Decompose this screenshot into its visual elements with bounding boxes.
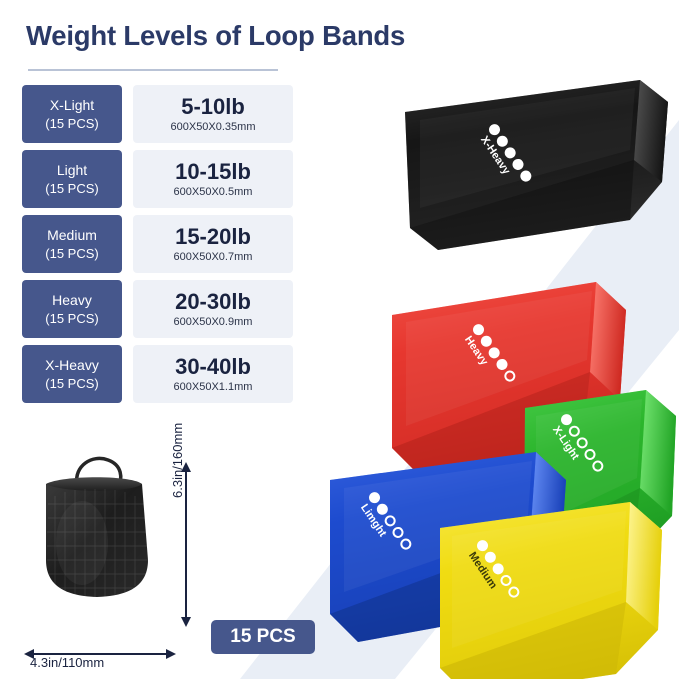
value-cell: 15-20lb 600X50X0.7mm bbox=[133, 215, 293, 273]
band-medium bbox=[440, 502, 662, 679]
dimension-value: 600X50X1.1mm bbox=[174, 381, 253, 393]
level-cell: X-Light (15 PCS) bbox=[22, 85, 122, 143]
level-cell: Light (15 PCS) bbox=[22, 150, 122, 208]
table-row: Medium (15 PCS) 15-20lb 600X50X0.7mm bbox=[22, 215, 293, 273]
pouch-width-label: 4.3in/110mm bbox=[30, 655, 104, 670]
table-row: Heavy (15 PCS) 20-30lb 600X50X0.9mm bbox=[22, 280, 293, 338]
page-title: Weight Levels of Loop Bands bbox=[26, 20, 405, 52]
weight-value: 30-40lb bbox=[175, 355, 251, 378]
band-x-heavy bbox=[405, 80, 668, 250]
level-pcs: (15 PCS) bbox=[45, 375, 98, 393]
level-name: Medium bbox=[47, 226, 97, 245]
level-pcs: (15 PCS) bbox=[45, 115, 98, 133]
weight-value: 5-10lb bbox=[181, 95, 245, 118]
product-infographic: Weight Levels of Loop Bands X-Light (15 … bbox=[0, 0, 679, 679]
pouch-height-label: 6.3in/160mm bbox=[170, 423, 185, 498]
bands-illustration: X-Heavy Heavy X-Light Limght bbox=[310, 60, 679, 679]
title-underline bbox=[28, 69, 278, 71]
weight-value: 20-30lb bbox=[175, 290, 251, 313]
level-pcs: (15 PCS) bbox=[45, 310, 98, 328]
level-pcs: (15 PCS) bbox=[45, 245, 98, 263]
level-name: Light bbox=[57, 161, 87, 180]
level-name: X-Light bbox=[50, 96, 94, 115]
level-cell: Medium (15 PCS) bbox=[22, 215, 122, 273]
dimension-value: 600X50X0.9mm bbox=[174, 316, 253, 328]
value-cell: 20-30lb 600X50X0.9mm bbox=[133, 280, 293, 338]
level-cell: X-Heavy (15 PCS) bbox=[22, 345, 122, 403]
level-name: Heavy bbox=[52, 291, 92, 310]
level-cell: Heavy (15 PCS) bbox=[22, 280, 122, 338]
value-cell: 30-40lb 600X50X1.1mm bbox=[133, 345, 293, 403]
dimension-value: 600X50X0.7mm bbox=[174, 251, 253, 263]
carry-pouch-image bbox=[22, 448, 172, 633]
table-row: X-Heavy (15 PCS) 30-40lb 600X50X1.1mm bbox=[22, 345, 293, 403]
value-cell: 5-10lb 600X50X0.35mm bbox=[133, 85, 293, 143]
spec-table: X-Light (15 PCS) 5-10lb 600X50X0.35mm Li… bbox=[22, 85, 293, 410]
dimension-value: 600X50X0.5mm bbox=[174, 186, 253, 198]
table-row: Light (15 PCS) 10-15lb 600X50X0.5mm bbox=[22, 150, 293, 208]
pcs-badge: 15 PCS bbox=[211, 620, 315, 654]
level-name: X-Heavy bbox=[45, 356, 99, 375]
weight-value: 15-20lb bbox=[175, 225, 251, 248]
dimension-value: 600X50X0.35mm bbox=[171, 121, 256, 133]
value-cell: 10-15lb 600X50X0.5mm bbox=[133, 150, 293, 208]
table-row: X-Light (15 PCS) 5-10lb 600X50X0.35mm bbox=[22, 85, 293, 143]
level-pcs: (15 PCS) bbox=[45, 180, 98, 198]
weight-value: 10-15lb bbox=[175, 160, 251, 183]
